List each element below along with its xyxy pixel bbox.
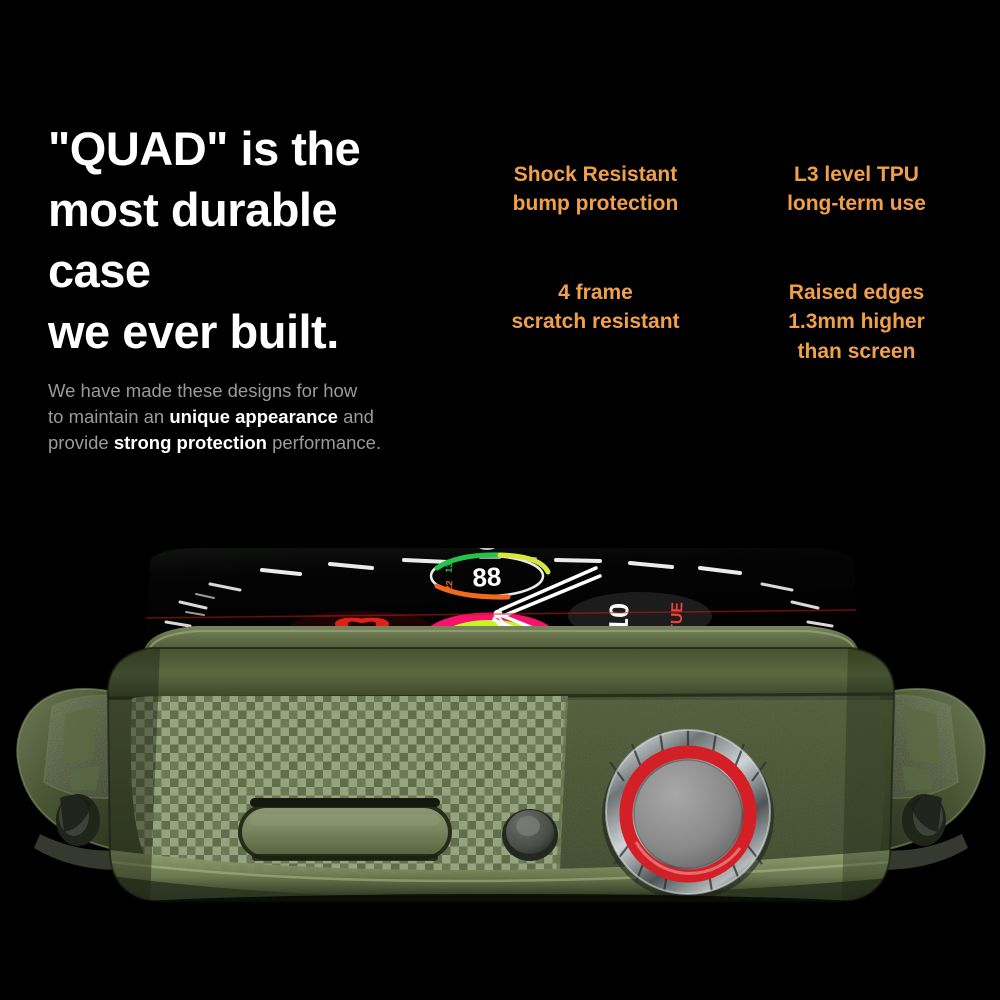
feature-3-line-1: 4 frame: [470, 278, 721, 307]
subtitle-line-2: to maintain an unique appearance and: [48, 404, 448, 430]
feature-4-line-1: Raised edges: [731, 278, 982, 307]
feature-grid: Shock Resistant bump protection L3 level…: [470, 160, 982, 366]
feature-2-line-1: L3 level TPU: [731, 160, 982, 189]
subtitle-line-1: We have made these designs for how: [48, 378, 448, 404]
subtitle-line-2-pre: to maintain an: [48, 406, 169, 427]
subtitle-line-3-post: performance.: [267, 432, 381, 453]
subtitle-emphasis-unique-appearance: unique appearance: [169, 406, 338, 427]
complication-label-a: 13: [444, 562, 455, 573]
subtitle-line-3: provide strong protection performance.: [48, 430, 448, 456]
headline-line-1: "QUAD" is the: [48, 118, 448, 179]
complication-label-b: 22: [444, 580, 455, 591]
feature-1-line-2: bump protection: [470, 189, 721, 218]
subtitle-line-3-pre: provide: [48, 432, 114, 453]
headline-line-2: most durable: [48, 179, 448, 240]
product-photo: 88 13 22: [0, 498, 1000, 968]
digital-crown[interactable]: [602, 730, 774, 900]
case-body: [100, 648, 900, 902]
side-button[interactable]: [238, 798, 452, 861]
page-title: "QUAD" is the most durable case we ever …: [48, 118, 448, 362]
feature-4-line-3: than screen: [731, 337, 982, 366]
feature-shock-resistant: Shock Resistant bump protection: [470, 160, 721, 278]
subtitle-paragraph: We have made these designs for how to ma…: [48, 378, 448, 456]
feature-4-frame: 4 frame scratch resistant: [470, 278, 721, 366]
subtitle-line-2-post: and: [338, 406, 374, 427]
feature-4-line-2: 1.3mm higher: [731, 307, 982, 336]
feature-l3-tpu: L3 level TPU long-term use: [731, 160, 982, 278]
headline-line-3: case: [48, 240, 448, 301]
feature-3-line-2: scratch resistant: [470, 307, 721, 336]
complication-top-value: 88: [472, 561, 502, 592]
headline-line-4: we ever built.: [48, 301, 448, 362]
feature-1-line-1: Shock Resistant: [470, 160, 721, 189]
feature-raised-edges: Raised edges 1.3mm higher than screen: [731, 278, 982, 366]
subtitle-emphasis-strong-protection: strong protection: [114, 432, 267, 453]
feature-2-line-2: long-term use: [731, 189, 982, 218]
action-button[interactable]: [502, 809, 558, 861]
product-banner: "QUAD" is the most durable case we ever …: [0, 0, 1000, 1000]
